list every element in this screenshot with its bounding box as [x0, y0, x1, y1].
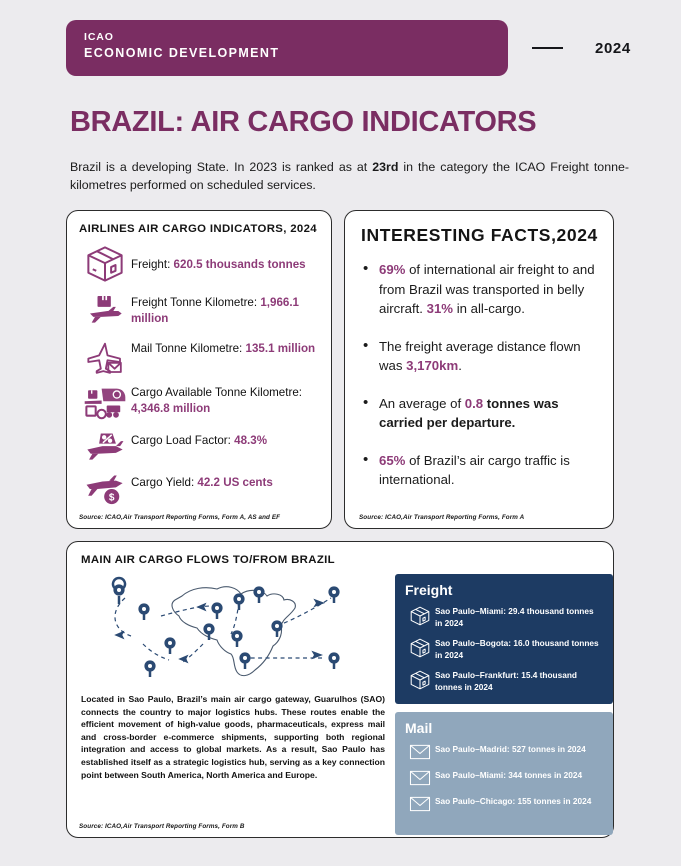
gateway-paragraph: Located in Sao Paulo, Brazil’s main air … [81, 693, 385, 781]
page-header: ICAO ECONOMIC DEVELOPMENT 2024 [0, 0, 681, 76]
indicator-row-freight-tonne-kilometre: Freight Tonne Kilometre: 1,966.1 million [79, 291, 321, 331]
fact-item: The freight average distance flown was 3… [361, 337, 599, 376]
indicator-value-catk: 4,346.8 million [131, 402, 210, 415]
mail-route-text: Sao Paulo–Chicago: 155 tonnes in 2024 [435, 794, 591, 808]
mail-rows: Sao Paulo–Madrid: 527 tonnes in 2024Sao … [405, 742, 603, 813]
interesting-facts-card: INTERESTING FACTS,2024 69% of internatio… [344, 210, 614, 529]
freight-route-text: Sao Paulo–Frankfurt: 15.4 thousand tonne… [435, 668, 603, 693]
envelope-icon [405, 794, 435, 813]
freight-route-row: Sao Paulo–Frankfurt: 15.4 thousand tonne… [405, 668, 603, 693]
mail-route-row: Sao Paulo–Madrid: 527 tonnes in 2024 [405, 742, 603, 761]
indicator-value-freight: 620.5 thousands tonnes [174, 258, 306, 271]
plane-dollar-icon: $ [79, 471, 131, 507]
indicator-row-cargo-load-factor: Cargo Load Factor: 48.3% [79, 429, 321, 465]
fact-text: An average of [379, 396, 465, 411]
freight-route-row: Sao Paulo–Miami: 29.4 thousand tonnes in… [405, 604, 603, 629]
facts-card-title: INTERESTING FACTS,2024 [361, 225, 599, 246]
fact-highlight: 0.8 [465, 396, 483, 411]
mail-route-row: Sao Paulo–Miami: 344 tonnes in 2024 [405, 768, 603, 787]
envelope-icon [405, 768, 435, 787]
plane-box-icon [79, 291, 131, 331]
mail-route-text: Sao Paulo–Miami: 344 tonnes in 2024 [435, 768, 582, 782]
mail-panel-title: Mail [405, 720, 603, 736]
plane-mail-icon [79, 337, 131, 377]
intro-paragraph: Brazil is a developing State. In 2023 is… [70, 158, 629, 194]
cards-row: AIRLINES AIR CARGO INDICATORS, 2024 Frei… [66, 210, 681, 529]
facts-card-source: Source: ICAO,Air Transport Reporting For… [359, 514, 524, 521]
freight-panel-title: Freight [405, 582, 603, 598]
indicator-text-freight: Freight: 620.5 thousands tonnes [131, 243, 306, 273]
cargo-flows-card: MAIN AIR CARGO FLOWS TO/FROM BRAZIL [66, 541, 614, 838]
fact-highlight: 69% [379, 262, 405, 277]
cargo-loader-icon [79, 383, 131, 423]
indicator-label-clf: Cargo Load Factor: [131, 434, 231, 447]
intro-before: Brazil is a developing State. In 2023 is… [70, 160, 372, 174]
indicator-value-clf: 48.3% [234, 434, 267, 447]
mail-route-row: Sao Paulo–Chicago: 155 tonnes in 2024 [405, 794, 603, 813]
freight-route-text: Sao Paulo–Bogota: 16.0 thousand tonnes i… [435, 636, 603, 661]
fact-item: 69% of international air freight to and … [361, 260, 599, 319]
intro-rank: 23rd [372, 160, 398, 174]
flows-panels: Freight Sao Paulo–Miami: 29.4 thousand t… [395, 566, 613, 835]
indicator-text-cargo-load-factor: Cargo Load Factor: 48.3% [131, 429, 267, 449]
freight-panel: Freight Sao Paulo–Miami: 29.4 thousand t… [395, 574, 613, 704]
brand-pill: ICAO ECONOMIC DEVELOPMENT [66, 20, 508, 76]
flows-card-body: Located in Sao Paulo, Brazil’s main air … [81, 566, 613, 835]
mail-panel: Mail Sao Paulo–Madrid: 527 tonnes in 202… [395, 712, 613, 835]
indicators-list: Freight: 620.5 thousands tonnes [79, 243, 321, 507]
fact-highlight: 65% [379, 453, 405, 468]
svg-text:$: $ [109, 492, 115, 503]
fact-text: in all-cargo. [453, 301, 525, 316]
facts-list: 69% of international air freight to and … [361, 260, 599, 490]
plane-percent-icon [79, 429, 131, 465]
freight-rows: Sao Paulo–Miami: 29.4 thousand tonnes in… [405, 604, 603, 693]
header-year: 2024 [595, 40, 631, 57]
flows-left-column: Located in Sao Paulo, Brazil’s main air … [81, 566, 391, 835]
fact-text: . [458, 358, 462, 373]
cargo-box-icon [405, 636, 435, 659]
indicator-row-cargo-available-tonne-kilometre: Cargo Available Tonne Kilometre: 4,346.8… [79, 383, 321, 423]
indicator-label-ftk: Freight Tonne Kilometre: [131, 296, 257, 309]
cargo-box-icon [405, 604, 435, 627]
fact-highlight: 31% [427, 301, 453, 316]
cargo-box-icon [79, 243, 131, 285]
indicator-text-freight-tonne-kilometre: Freight Tonne Kilometre: 1,966.1 million [131, 291, 321, 326]
freight-route-text: Sao Paulo–Miami: 29.4 thousand tonnes in… [435, 604, 603, 629]
indicators-card-source: Source: ICAO,Air Transport Reporting For… [79, 514, 280, 521]
indicators-card-title: AIRLINES AIR CARGO INDICATORS, 2024 [79, 223, 321, 235]
fact-item: An average of 0.8 tonnes was carried per… [361, 394, 599, 433]
indicator-row-freight: Freight: 620.5 thousands tonnes [79, 243, 321, 285]
page-title: BRAZIL: AIR CARGO INDICATORS [70, 106, 681, 139]
mail-route-text: Sao Paulo–Madrid: 527 tonnes in 2024 [435, 742, 586, 756]
freight-route-row: Sao Paulo–Bogota: 16.0 thousand tonnes i… [405, 636, 603, 661]
indicator-label-catk: Cargo Available Tonne Kilometre: [131, 386, 302, 399]
fact-item: 65% of Brazil’s air cargo traffic is int… [361, 451, 599, 490]
indicator-text-mail-tonne-kilometre: Mail Tonne Kilometre: 135.1 million [131, 337, 315, 357]
header-divider-rule [532, 47, 563, 49]
indicator-label-cargo-yield: Cargo Yield: [131, 476, 194, 489]
cargo-box-icon [405, 668, 435, 691]
indicator-label-freight: Freight: [131, 258, 170, 271]
brand-line-icao: ICAO [84, 30, 508, 45]
brazil-flows-map [87, 574, 387, 684]
brand-line-economic-development: ECONOMIC DEVELOPMENT [84, 45, 508, 62]
indicator-row-mail-tonne-kilometre: Mail Tonne Kilometre: 135.1 million [79, 337, 321, 377]
indicator-value-cargo-yield: 42.2 US cents [197, 476, 272, 489]
envelope-icon [405, 742, 435, 761]
indicator-text-cargo-yield: Cargo Yield: 42.2 US cents [131, 471, 273, 491]
indicator-text-catk: Cargo Available Tonne Kilometre: 4,346.8… [131, 383, 321, 416]
flows-card-source: Source: ICAO,Air Transport Reporting For… [79, 823, 244, 830]
fact-text: of Brazil’s air cargo traffic is interna… [379, 453, 570, 488]
flows-card-title: MAIN AIR CARGO FLOWS TO/FROM BRAZIL [81, 554, 613, 566]
airlines-indicators-card: AIRLINES AIR CARGO INDICATORS, 2024 Frei… [66, 210, 332, 529]
indicator-value-mtk: 135.1 million [246, 342, 316, 355]
indicator-label-mtk: Mail Tonne Kilometre: [131, 342, 242, 355]
indicator-row-cargo-yield: $ Cargo Yield: 42.2 US cents [79, 471, 321, 507]
fact-highlight: 3,170km [406, 358, 458, 373]
